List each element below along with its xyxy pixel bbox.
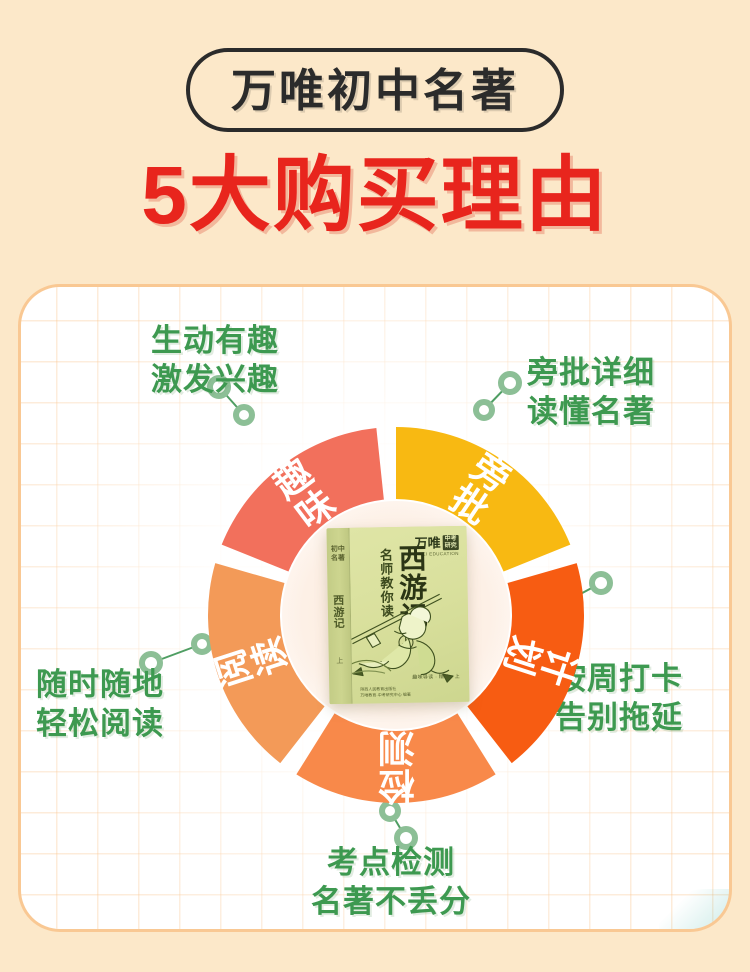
monkey-king-illustration <box>349 574 469 688</box>
callout-yuedu-line2: 轻松阅读 <box>36 704 164 743</box>
svg-text:测: 测 <box>377 727 415 768</box>
book-spine-volume: 上 <box>336 656 343 666</box>
callout-jiance-line1: 考点检测 <box>311 843 471 882</box>
wheel-label-jiance: 检测 <box>377 727 415 805</box>
page-header: 万唯初中名著 5大购买理由 <box>0 0 750 272</box>
callout-quwei-line1: 生动有趣 <box>151 321 279 360</box>
headline-text: 5大购买理由 <box>141 150 609 241</box>
brand-badge: 万唯初中名著 <box>186 48 564 132</box>
connector-dot-pangpi-inner <box>476 402 492 418</box>
page-title: 5大购买理由 <box>0 155 750 237</box>
brand-badge-label: 万唯初中名著 <box>231 68 519 113</box>
callout-pangpi-line1: 旁批详细 <box>527 353 655 392</box>
book-spine: 初中名著 西游记 上 <box>326 528 352 704</box>
callout-quwei: 生动有趣 激发兴趣 <box>151 321 279 399</box>
connector-dot-jihua-outer <box>592 574 610 592</box>
connector-dot-quwei-inner <box>236 407 252 423</box>
callout-yuedu: 随时随地 轻松阅读 <box>36 665 164 743</box>
callout-yuedu-line1: 随时随地 <box>36 665 164 704</box>
content-card: 生动有趣 激发兴趣 旁批详细 读懂名著 按周打卡 告别拖延 考点检测 名著不丢分… <box>18 284 732 932</box>
book-cover: 初中名著 西游记 上 万唯 中考研究 WANWEI EDUCATION 名师教你… <box>326 526 469 704</box>
callout-jiance-line2: 名著不丢分 <box>311 882 471 921</box>
promo-page: 万唯初中名著 5大购买理由 <box>0 0 750 972</box>
publisher-logo-box: 中考研究 <box>443 535 459 550</box>
book-footer-note: 趣味导读 · 精读 · 上 <box>412 673 460 681</box>
callout-pangpi: 旁批详细 读懂名著 <box>527 353 655 431</box>
corner-decoration <box>659 889 732 932</box>
connector-dot-jiance-inner <box>382 803 398 819</box>
svg-text:检: 检 <box>377 765 415 805</box>
callout-jiance: 考点检测 名著不丢分 <box>311 843 471 921</box>
book-imprint: 陕西人民教育出版社万唯教育·中考研究中心 编著 <box>360 686 411 699</box>
book-front: 万唯 中考研究 WANWEI EDUCATION 名师教你读 西游记 上 <box>349 526 469 704</box>
connector-dot-pangpi-outer <box>501 374 519 392</box>
book-spine-series: 初中名著 <box>331 546 345 564</box>
callout-quwei-line2: 激发兴趣 <box>151 360 279 399</box>
benefit-wheel: 旁批计划检测阅读趣味 初中名著 西游记 上 万唯 中考研究 WANWEI EDU… <box>206 425 586 805</box>
book-spine-title: 西游记 <box>332 596 347 631</box>
